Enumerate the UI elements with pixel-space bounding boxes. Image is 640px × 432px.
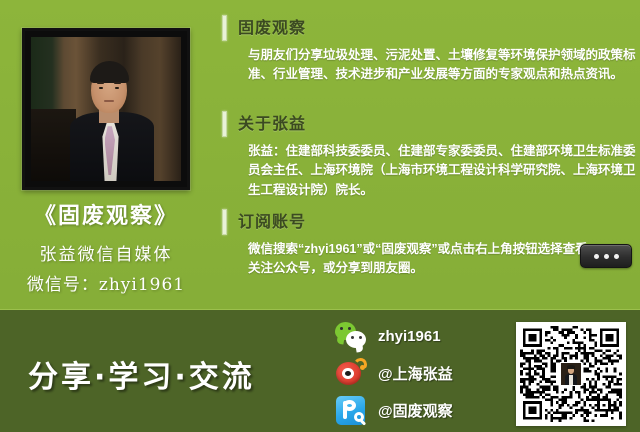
social-row-weibo[interactable]: @上海张益 <box>334 355 504 391</box>
section-header: 订阅账号 <box>214 208 634 238</box>
section-body: 微信搜索“zhyi1961”或“固废观察”或点击右上角按钮选择查看关注公众号，或… <box>248 240 596 279</box>
qr-center-avatar <box>560 362 582 386</box>
qr-code[interactable] <box>516 322 626 426</box>
footer-band: 分享·学习·交流 zhyi1961 @上海张益 <box>0 309 640 432</box>
social-label: @上海张益 <box>378 363 453 384</box>
section-marker-bar <box>222 209 227 235</box>
photo-brow-right <box>114 82 121 84</box>
section-body: 张益：住建部科技委委员、住建部专家委委员、住建部环境卫生标准委员会主任、上海环境… <box>248 142 636 200</box>
dot-icon <box>604 254 609 259</box>
photo-brow-left <box>97 82 104 84</box>
channel-wechat-id: 微信号：zhyi1961 <box>0 270 212 295</box>
footer-slogan: 分享·学习·交流 <box>28 352 255 396</box>
portrait-frame <box>22 28 190 190</box>
more-options-button[interactable] <box>580 244 632 268</box>
left-column: 《固废观察》 张益微信自媒体 微信号：zhyi1961 <box>0 0 212 308</box>
section-marker-bar <box>222 15 227 41</box>
section-body: 与朋友们分享垃圾处理、污泥处置、土壤修复等环境保护领域的政策标准、行业管理、技术… <box>248 46 636 85</box>
portrait-photo <box>31 37 181 181</box>
section-subscribe: 订阅账号 微信搜索“zhyi1961”或“固废观察”或点击右上角按钮选择查看关注… <box>214 208 634 279</box>
dot-icon <box>614 254 619 259</box>
wechat-promo-card: 《固废观察》 张益微信自媒体 微信号：zhyi1961 固废观察 与朋友们分享垃… <box>0 0 640 432</box>
social-row-wechat[interactable]: zhyi1961 <box>334 318 504 354</box>
section-header: 关于张益 <box>214 110 634 140</box>
section-marker-bar <box>222 111 227 137</box>
social-row-tencent-weibo[interactable]: @固废观察 <box>334 392 504 428</box>
tencent-weibo-icon <box>334 393 368 427</box>
section-title: 固废观察 <box>238 14 306 38</box>
social-label: @固废观察 <box>378 400 453 421</box>
section-title: 订阅账号 <box>238 208 306 232</box>
social-accounts-list: zhyi1961 @上海张益 @固废观察 <box>334 318 504 429</box>
section-about-zhangyi: 关于张益 张益：住建部科技委委员、住建部专家委委员、住建部环境卫生标准委员会主任… <box>214 110 634 200</box>
section-header: 固废观察 <box>214 14 634 44</box>
right-column: 固废观察 与朋友们分享垃圾处理、污泥处置、土壤修复等环境保护领域的政策标准、行业… <box>214 0 640 308</box>
channel-subtitle: 张益微信自媒体 <box>0 240 212 265</box>
section-title: 关于张益 <box>238 110 306 134</box>
qr-code-matrix <box>520 326 622 422</box>
section-solid-waste-observation: 固废观察 与朋友们分享垃圾处理、污泥处置、土壤修复等环境保护领域的政策标准、行业… <box>214 14 634 85</box>
weibo-icon <box>334 356 368 390</box>
dot-icon <box>594 254 599 259</box>
photo-mouth <box>104 100 115 102</box>
channel-title: 《固废观察》 <box>0 198 212 230</box>
social-label: zhyi1961 <box>378 328 441 345</box>
wechat-icon <box>334 319 368 353</box>
